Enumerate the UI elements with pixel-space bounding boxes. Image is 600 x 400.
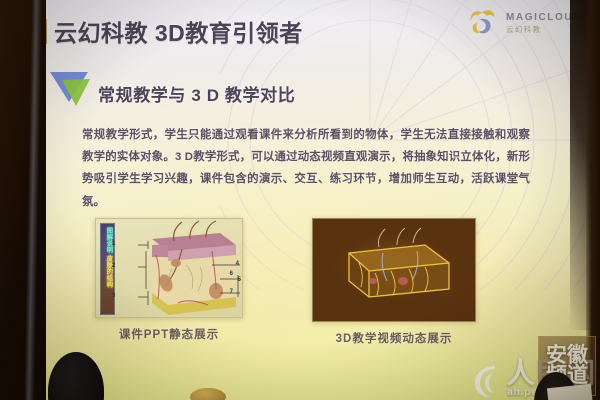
slide-subtitle: 常规教学与 3 D 教学对比	[98, 81, 295, 108]
skin-cross-section-diagram	[116, 219, 243, 318]
brand-logo: MAGICLOUD 云幻科教	[467, 8, 582, 38]
triangle-bullet-icon	[48, 68, 92, 108]
figure-a-vertical-label: 图解说明 皮肤的结构	[100, 223, 115, 315]
projected-slide-photo: 云幻科教 3D教育引领者 MAGICLOUD 云幻科教 常规教学与 3 D 教学…	[0, 0, 600, 400]
callout-number-1: 1	[112, 241, 115, 247]
magicloud-cloud-icon	[467, 8, 499, 38]
figure-b-caption: 3D教学视频动态展示	[312, 330, 476, 346]
callout-number-3: 3	[112, 293, 115, 299]
slide-content: 云幻科教 3D教育引领者 MAGICLOUD 云幻科教 常规教学与 3 D 教学…	[40, 0, 596, 400]
page-title: 云幻科教 3D教育引领者	[54, 14, 303, 48]
figure-a-label-bottom: 皮肤的结构	[104, 255, 111, 288]
figure-3d-video: 3D教学视频动态展示	[312, 218, 476, 322]
skin-3d-render	[313, 219, 476, 322]
callout-number-6: 6	[230, 271, 233, 277]
callout-number-2: 2	[112, 263, 115, 269]
foreground-object	[190, 388, 226, 400]
slide-subtitle-row: 常规教学与 3 D 教学对比	[48, 68, 295, 108]
callout-number-7: 7	[230, 289, 233, 295]
figure-ppt-static: 图解说明 皮肤的结构	[95, 218, 243, 318]
figure-a-caption: 课件PPT静态展示	[95, 326, 243, 342]
slide-body-text: 常规教学形式，学生只能通过观看课件来分析所看到的物体，学生无法直接接触和观察教学…	[82, 124, 530, 213]
figure-a-label-top: 图解说明	[104, 227, 111, 253]
crescent-moon-icon	[473, 364, 503, 398]
callout-number-5: 5	[238, 277, 241, 283]
figure-b-frame	[312, 218, 476, 322]
figure-a-frame: 图解说明 皮肤的结构	[95, 218, 243, 318]
callout-number-4: 4	[236, 261, 239, 267]
slide-title-row: 云幻科教 3D教育引领者	[42, 14, 303, 48]
